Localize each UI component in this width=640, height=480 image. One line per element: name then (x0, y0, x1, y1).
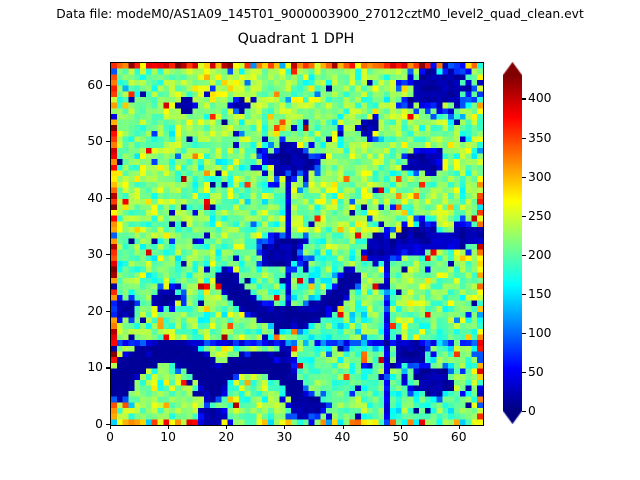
colorbar-tick-mark (522, 177, 526, 178)
y-tick-mark (106, 254, 110, 255)
colorbar-tick-mark (522, 372, 526, 373)
colorbar-tick-mark (522, 98, 526, 99)
y-tick-label: 10 (87, 360, 103, 374)
y-tick-mark (106, 367, 110, 368)
y-tick-mark (106, 311, 110, 312)
colorbar-tick-label: 150 (528, 287, 551, 301)
colorbar-tick-mark (522, 333, 526, 334)
dph-heatmap-image (111, 63, 483, 425)
x-tick-mark (110, 425, 111, 429)
colorbar-tick-label: 50 (528, 365, 544, 379)
x-tick-label: 50 (393, 430, 409, 444)
colorbar-tick-label: 200 (528, 248, 551, 262)
data-file-suptitle: Data file: modeM0/AS1A09_145T01_90000039… (0, 7, 640, 21)
y-tick-mark (106, 85, 110, 86)
colorbar-tick-mark (522, 138, 526, 139)
y-tick-label: 60 (87, 78, 103, 92)
y-tick-mark (106, 141, 110, 142)
y-tick-label: 50 (87, 134, 103, 148)
colorbar-tick-mark (522, 294, 526, 295)
colorbar-tick-label: 350 (528, 131, 551, 145)
x-tick-label: 10 (160, 430, 176, 444)
colorbar-tick-label: 100 (528, 326, 551, 340)
x-tick-mark (459, 425, 460, 429)
x-tick-mark (343, 425, 344, 429)
y-tick-mark (106, 198, 110, 199)
y-tick-label: 20 (87, 304, 103, 318)
x-tick-mark (284, 425, 285, 429)
colorbar-tick-label: 300 (528, 170, 551, 184)
plot-title: Quadrant 1 DPH (0, 31, 592, 47)
x-tick-mark (168, 425, 169, 429)
x-tick-label: 60 (451, 430, 467, 444)
y-tick-mark (106, 424, 110, 425)
matplotlib-figure: Data file: modeM0/AS1A09_145T01_90000039… (0, 0, 640, 480)
colorbar-tick-mark (522, 216, 526, 217)
y-tick-label: 0 (95, 417, 103, 431)
x-tick-label: 0 (106, 430, 114, 444)
colorbar-tick-mark (522, 411, 526, 412)
dph-heatmap-axes[interactable] (110, 62, 484, 426)
colorbar-tick-mark (522, 255, 526, 256)
colorbar-tick-label: 250 (528, 209, 551, 223)
x-tick-mark (401, 425, 402, 429)
x-tick-mark (226, 425, 227, 429)
colorbar-gradient (503, 62, 522, 424)
y-tick-label: 40 (87, 191, 103, 205)
x-tick-label: 20 (218, 430, 234, 444)
x-tick-label: 40 (335, 430, 351, 444)
colorbar-tick-label: 0 (528, 404, 536, 418)
colorbar-tick-label: 400 (528, 91, 551, 105)
y-tick-label: 30 (87, 247, 103, 261)
x-tick-label: 30 (277, 430, 293, 444)
colorbar[interactable] (503, 62, 522, 424)
